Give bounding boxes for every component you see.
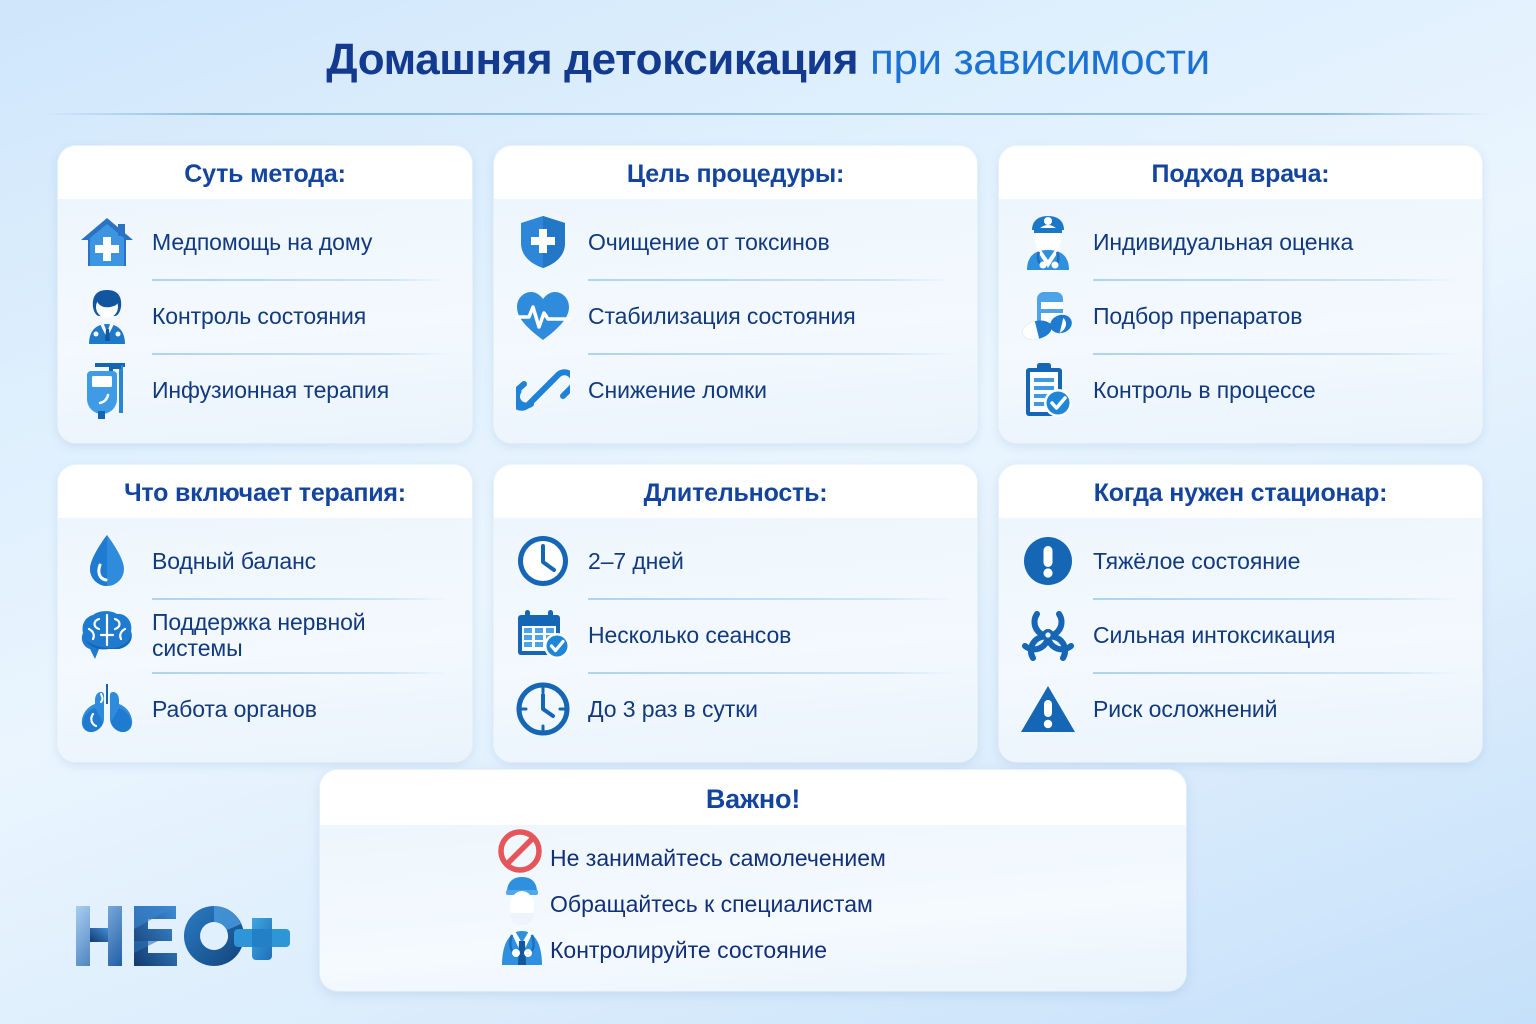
card-heading: Суть метода: bbox=[58, 146, 472, 199]
list-item-label: Тяжёлое состояние bbox=[1093, 548, 1300, 574]
list-item: Работа органов bbox=[76, 672, 452, 746]
list-item: Индивидуальная оценка bbox=[1017, 205, 1462, 279]
card-hospital-needed: Когда нужен стационар: Тяжёлое состояние bbox=[999, 465, 1482, 762]
list-item-label: Контроль в процессе bbox=[1093, 377, 1316, 403]
doctor-figure-icon bbox=[498, 873, 546, 965]
card-heading: Когда нужен стационар: bbox=[999, 465, 1482, 518]
card-body: Водный баланс bbox=[58, 518, 472, 762]
page-title-light: при зависимости bbox=[870, 35, 1210, 84]
card-goal: Цель процедуры: Очищение от токсинов bbox=[494, 146, 977, 443]
list-item-label: Очищение от токсинов bbox=[588, 229, 830, 255]
list-item: Снижение ломки bbox=[512, 353, 957, 427]
list-item: Поддержка нервной системы bbox=[76, 598, 452, 672]
card-heading: Что включает терапия: bbox=[58, 465, 472, 518]
list-item: Водный баланс bbox=[76, 524, 452, 598]
page-title: Домашняя детоксикация при зависимости bbox=[0, 36, 1536, 84]
header-divider bbox=[42, 113, 1494, 115]
card-method: Суть метода: Медпомощь на дому bbox=[58, 146, 472, 443]
card-heading: Длительность: bbox=[494, 465, 977, 518]
list-item: Стабилизация состояния bbox=[512, 279, 957, 353]
calendar-check-icon bbox=[512, 605, 574, 665]
list-item-label: Обращайтесь к специалистам bbox=[550, 891, 873, 918]
shield-cross-icon bbox=[512, 212, 574, 272]
doctor-stethoscope-icon bbox=[1017, 212, 1079, 272]
brain-icon bbox=[76, 605, 138, 665]
list-item-label: Снижение ломки bbox=[588, 377, 767, 403]
list-item-label: Сильная интоксикация bbox=[1093, 622, 1335, 648]
warning-triangle-icon bbox=[1017, 679, 1079, 739]
card-therapy-includes: Что включает терапия: Водный баланс bbox=[58, 465, 472, 762]
list-item: Несколько сеансов bbox=[512, 598, 957, 672]
list-item: Сильная интоксикация bbox=[1017, 598, 1462, 672]
list-item: До 3 раз в сутки bbox=[512, 672, 957, 746]
list-item-label: Водный баланс bbox=[152, 548, 316, 574]
card-body: Индивидуальная оценка Подбор препаратов bbox=[999, 199, 1482, 443]
list-item-label: Медпомощь на дому bbox=[152, 229, 372, 255]
list-item: Не занимайтесь самолечением bbox=[320, 835, 1186, 881]
clock-ticks-icon bbox=[512, 679, 574, 739]
important-heading: Важно! bbox=[320, 770, 1186, 825]
card-body: Тяжёлое состояние Сильная интоксикация bbox=[999, 518, 1482, 762]
page-header: Домашняя детоксикация при зависимости bbox=[0, 0, 1536, 84]
doctor-person-icon bbox=[76, 286, 138, 346]
list-item-label: Риск осложнений bbox=[1093, 696, 1277, 722]
pills-bottle-icon bbox=[1017, 286, 1079, 346]
prohibition-icon bbox=[498, 829, 542, 873]
cards-grid: Суть метода: Медпомощь на дому bbox=[58, 146, 1482, 762]
clock-icon bbox=[512, 531, 574, 591]
list-item-label: Работа органов bbox=[152, 696, 317, 722]
lungs-icon bbox=[76, 679, 138, 739]
house-cross-icon bbox=[76, 212, 138, 272]
list-item-label: Стабилизация состояния bbox=[588, 303, 856, 329]
list-item-label: 2–7 дней bbox=[588, 548, 684, 574]
water-drop-icon bbox=[76, 531, 138, 591]
list-item-label: Не занимайтесь самолечением bbox=[550, 845, 886, 872]
card-heading: Подход врача: bbox=[999, 146, 1482, 199]
important-body: Не занимайтесь самолечением Обращайтесь … bbox=[320, 825, 1186, 991]
list-item-label: Подбор препаратов bbox=[1093, 303, 1302, 329]
list-item: 2–7 дней bbox=[512, 524, 957, 598]
card-duration: Длительность: 2–7 дней bbox=[494, 465, 977, 762]
iv-drip-icon bbox=[76, 360, 138, 420]
list-item-label: До 3 раз в сутки bbox=[588, 696, 758, 722]
exclamation-circle-icon bbox=[1017, 531, 1079, 591]
list-item: Подбор препаратов bbox=[1017, 279, 1462, 353]
list-item: Тяжёлое состояние bbox=[1017, 524, 1462, 598]
list-item: Риск осложнений bbox=[1017, 672, 1462, 746]
list-item-label: Контролируйте состояние bbox=[550, 937, 827, 964]
page-title-strong: Домашняя детоксикация bbox=[326, 35, 858, 84]
list-item: Контроль в процессе bbox=[1017, 353, 1462, 427]
important-card: Важно! Не занимайт bbox=[320, 770, 1186, 991]
list-item: Очищение от токсинов bbox=[512, 205, 957, 279]
biohazard-icon bbox=[1017, 605, 1079, 665]
heart-pulse-icon bbox=[512, 286, 574, 346]
list-item-label: Индивидуальная оценка bbox=[1093, 229, 1353, 255]
list-item: Обращайтесь к специалистам bbox=[320, 881, 1186, 927]
list-item: Медпомощь на дому bbox=[76, 205, 452, 279]
list-item-label: Инфузионная терапия bbox=[152, 377, 389, 403]
list-item: Контроль состояния bbox=[76, 279, 452, 353]
card-body: Медпомощь на дому Контроль состоян bbox=[58, 199, 472, 443]
card-heading: Цель процедуры: bbox=[494, 146, 977, 199]
brand-logo bbox=[72, 898, 290, 974]
card-body: 2–7 дней bbox=[494, 518, 977, 762]
list-item: Инфузионная терапия bbox=[76, 353, 452, 427]
list-item-label: Поддержка нервной системы bbox=[152, 609, 452, 662]
clipboard-check-icon bbox=[1017, 360, 1079, 420]
chain-link-icon bbox=[512, 360, 574, 420]
list-item-label: Несколько сеансов bbox=[588, 622, 791, 648]
card-body: Очищение от токсинов Стабилизация состоя… bbox=[494, 199, 977, 443]
list-item: Контролируйте состояние bbox=[320, 927, 1186, 973]
list-item-label: Контроль состояния bbox=[152, 303, 366, 329]
card-doctor-approach: Подход врача: bbox=[999, 146, 1482, 443]
